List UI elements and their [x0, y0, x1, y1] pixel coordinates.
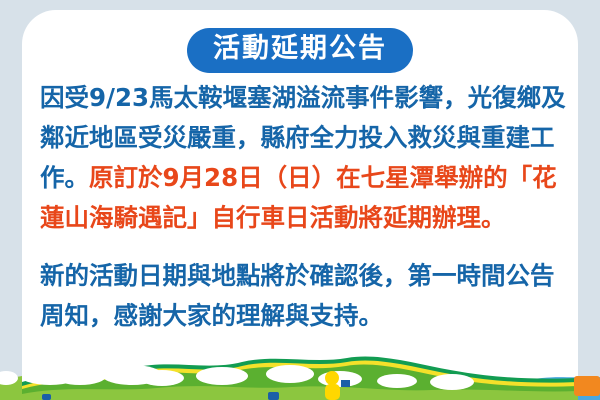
figure-head	[325, 371, 339, 385]
scenery-illustration	[22, 338, 578, 400]
paragraph-2-segment-1: 新的活動日期與地點將於確認後，第一時間公告周知，感謝大家的理解與支持。	[40, 261, 555, 330]
figure-body	[325, 384, 340, 400]
cloud-4	[266, 365, 314, 383]
cloud-7	[430, 374, 474, 390]
cloud-5	[318, 371, 362, 387]
title-banner: 活動延期公告	[22, 28, 578, 73]
cloud-6	[377, 374, 417, 388]
paragraph-1: 因受9/23馬太鞍堰塞湖溢流事件影響，光復鄉及鄰近地區受災嚴重，縣府全力投入救災…	[40, 78, 568, 238]
page-title: 活動延期公告	[187, 28, 413, 73]
cloud-3	[196, 367, 248, 385]
marker-blue-2	[42, 394, 51, 400]
poster-root: 活動延期公告 因受9/23馬太鞍堰塞湖溢流事件影響，光復鄉及鄰近地區受災嚴重，縣…	[0, 0, 600, 400]
cloud-1b	[54, 367, 106, 385]
paragraph-2: 新的活動日期與地點將於確認後，第一時間公告周知，感謝大家的理解與支持。	[40, 256, 568, 336]
right-gutter	[578, 0, 600, 400]
announcement-body: 因受9/23馬太鞍堰塞湖溢流事件影響，光復鄉及鄰近地區受災嚴重，縣府全力投入救災…	[40, 78, 568, 336]
paragraph-1-segment-2-highlight: 原訂於9月28日（日）在七星潭舉辦的「花蓮山海騎遇記」自行車日活動將延期辦理。	[40, 163, 557, 232]
left-gutter-art	[0, 338, 22, 400]
announcement-card: 活動延期公告 因受9/23馬太鞍堰塞湖溢流事件影響，光復鄉及鄰近地區受災嚴重，縣…	[22, 10, 578, 400]
orange-marker	[574, 376, 600, 396]
figure-flag	[341, 380, 350, 387]
cloud-2b	[140, 370, 184, 386]
marker-blue-1	[268, 392, 279, 400]
left-gutter	[0, 0, 22, 400]
